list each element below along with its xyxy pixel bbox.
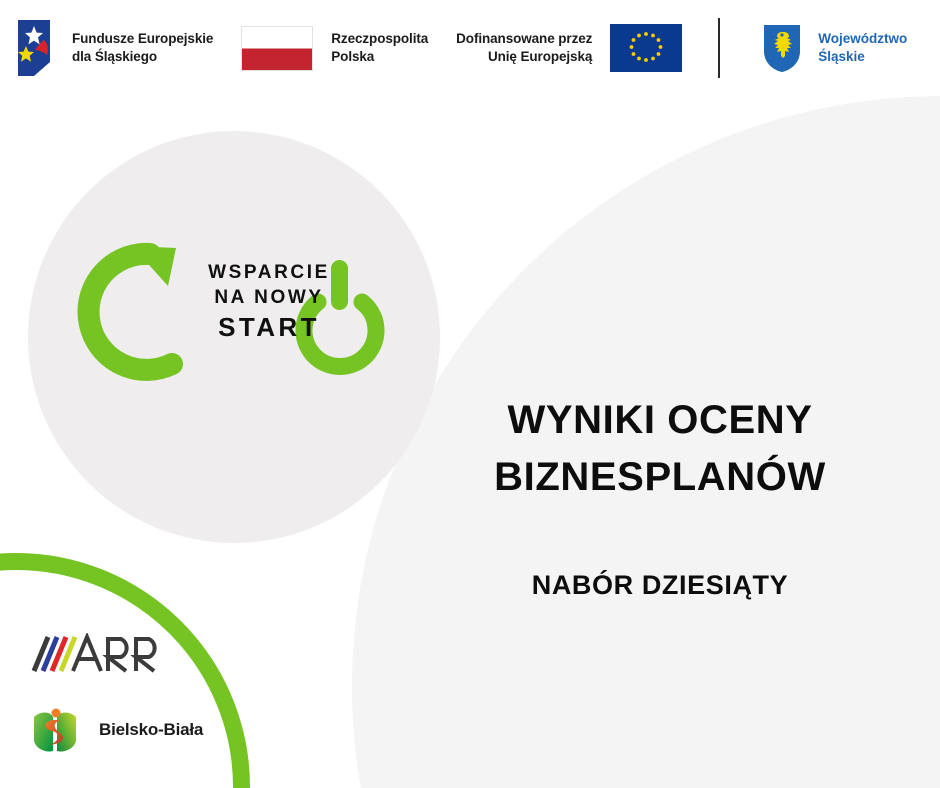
- city-logo-row: Bielsko-Biała: [28, 703, 203, 757]
- partner-logos: Bielsko-Biała: [28, 633, 203, 757]
- eu-flag-icon: [610, 24, 682, 72]
- header-funds-label: Fundusze Europejskie dla Śląskiego: [72, 30, 213, 66]
- polish-flag-icon: [241, 26, 313, 71]
- program-logo-wordmark: WSPARCIE NA NOWY START: [184, 260, 354, 344]
- funding-logos-header: Fundusze Europejskie dla Śląskiego Rzecz…: [0, 0, 940, 96]
- program-logo: WSPARCIE NA NOWY START: [72, 224, 392, 394]
- poster-root: Fundusze Europejskie dla Śląskiego Rzecz…: [0, 0, 940, 788]
- header-republic-label: Rzeczpospolita Polska: [331, 30, 428, 66]
- header-item-funds: Fundusze Europejskie dla Śląskiego: [14, 18, 213, 78]
- bielsko-biala-emblem-icon: [28, 703, 82, 757]
- header-item-republic: Rzeczpospolita Polska: [241, 18, 428, 78]
- silesian-eagle-shield-icon: [762, 23, 802, 73]
- vertical-divider-icon: [718, 18, 720, 78]
- page-subtitle: NABÓR DZIESIĄTY: [400, 568, 920, 603]
- program-logo-line2: NA NOWY: [184, 285, 354, 310]
- arr-stripes-logo-icon: [28, 633, 178, 675]
- program-logo-line3: START: [184, 310, 354, 344]
- eu-funds-flag-icon: [14, 18, 56, 78]
- header-item-voivodeship: Województwo Śląskie: [762, 18, 907, 78]
- program-logo-line1: WSPARCIE: [184, 260, 354, 285]
- city-logo-label: Bielsko-Biała: [99, 720, 203, 740]
- header-cofinanced-label: Dofinansowane przez Unię Europejską: [456, 30, 592, 66]
- circular-arrow-icon: [89, 246, 176, 370]
- header-item-cofinanced: Dofinansowane przez Unię Europejską: [456, 18, 682, 78]
- main-titles: WYNIKI OCENY BIZNESPLANÓW NABÓR DZIESIĄT…: [400, 392, 920, 603]
- header-divider: [718, 18, 720, 78]
- page-title: WYNIKI OCENY BIZNESPLANÓW: [400, 392, 920, 506]
- header-voivodeship-label: Województwo Śląskie: [818, 30, 907, 66]
